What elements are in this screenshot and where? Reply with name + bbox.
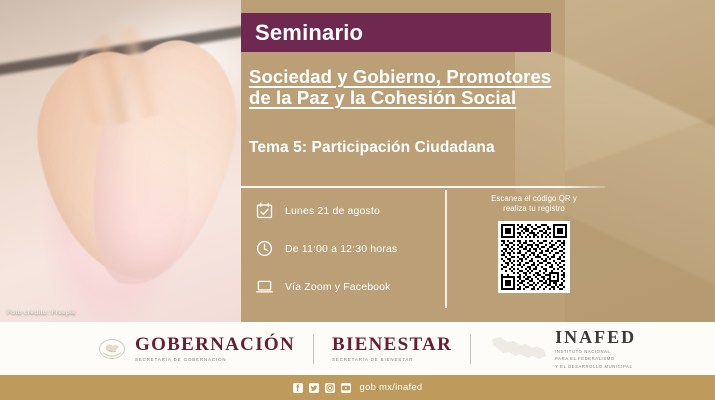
- logo-inafed: INAFED INSTITUTO NACIONAL PARA EL FEDERA…: [489, 322, 636, 375]
- logo-gobernacion-word: GOBERNACIÓN: [135, 335, 295, 355]
- logo-bienestar-text: BIENESTAR SECRETARÍA DE BIENESTAR: [332, 335, 452, 363]
- qr-caption-line-1: Escanea el código QR y: [491, 194, 577, 203]
- logo-inafed-sub-1: INSTITUTO NACIONAL: [555, 349, 636, 354]
- clock-icon: [256, 240, 273, 257]
- logo-gobernacion-sub: SECRETARÍA DE GOBERNACIÓN: [135, 357, 295, 363]
- seminario-badge-label: Seminario: [255, 20, 363, 46]
- detail-text-date: Lunes 21 de agosto: [285, 205, 380, 217]
- detail-text-platform: Vía Zoom y Facebook: [285, 281, 391, 293]
- detail-row-platform: Vía Zoom y Facebook: [256, 270, 436, 303]
- mexican-eagle-emblem: [98, 335, 126, 363]
- title-line-1: Sociedad y Gobierno, Promotores: [249, 66, 551, 87]
- youtube-icon[interactable]: [341, 383, 351, 393]
- registration-qr-code[interactable]: [498, 221, 570, 293]
- photo-credit: Foto crédito: Freepik: [7, 309, 76, 316]
- facebook-icon[interactable]: [293, 383, 303, 393]
- detail-row-date: Lunes 21 de agosto: [256, 194, 436, 227]
- clasped-hands-photo: Foto crédito: Freepik: [0, 0, 241, 322]
- qr-caption-line-2: realiza tu registro: [503, 204, 565, 213]
- detail-row-time: De 11:00 a 12:30 horas: [256, 232, 436, 265]
- twitter-icon[interactable]: [309, 383, 319, 393]
- page-subtitle: Tema 5: Participación Ciudadana: [249, 139, 495, 157]
- logo-inafed-sub-2: PARA EL FEDERALISMO: [555, 356, 636, 361]
- title-block: Sociedad y Gobierno, Promotores de la Pa…: [249, 66, 679, 108]
- logo-inafed-text: INAFED INSTITUTO NACIONAL PARA EL FEDERA…: [555, 328, 636, 369]
- laptop-icon: [256, 278, 273, 295]
- social-links: [293, 383, 351, 393]
- footer-url[interactable]: gob.mx/inafed: [360, 382, 423, 393]
- qr-caption: Escanea el código QR y realiza tu regist…: [460, 194, 608, 214]
- logo-divider-1: [313, 334, 314, 364]
- seminario-badge: Seminario: [241, 13, 551, 52]
- title-line-2: de la Paz y la Cohesión Social: [249, 87, 516, 108]
- instagram-icon[interactable]: [325, 383, 335, 393]
- vertical-divider: [445, 190, 447, 308]
- logo-gobernacion-text: GOBERNACIÓN SECRETARÍA DE GOBERNACIÓN: [135, 335, 295, 363]
- detail-text-time: De 11:00 a 12:30 horas: [285, 243, 397, 255]
- logo-bienestar-word: BIENESTAR: [332, 335, 452, 355]
- event-details-list: Lunes 21 de agosto De 11:00 a 12:30 hora…: [256, 194, 436, 308]
- mexico-map-outline: [489, 332, 549, 366]
- qr-registration-block: Escanea el código QR y realiza tu regist…: [460, 194, 608, 293]
- logo-bienestar: BIENESTAR SECRETARÍA DE BIENESTAR: [332, 322, 452, 375]
- horizontal-divider: [240, 186, 605, 188]
- institution-logo-band: GOBERNACIÓN SECRETARÍA DE GOBERNACIÓN BI…: [0, 322, 715, 375]
- logo-bienestar-sub: SECRETARÍA DE BIENESTAR: [332, 357, 452, 363]
- seminar-poster: Foto crédito: Freepik Seminario Sociedad…: [0, 0, 715, 400]
- logo-gobernacion: GOBERNACIÓN SECRETARÍA DE GOBERNACIÓN: [98, 322, 295, 375]
- logo-inafed-word: INAFED: [555, 328, 636, 347]
- calendar-icon: [256, 202, 273, 219]
- logo-divider-2: [470, 334, 471, 364]
- logo-inafed-sub-3: Y EL DESARROLLO MUNICIPAL: [555, 364, 636, 369]
- footer-bar: gob.mx/inafed: [0, 375, 715, 400]
